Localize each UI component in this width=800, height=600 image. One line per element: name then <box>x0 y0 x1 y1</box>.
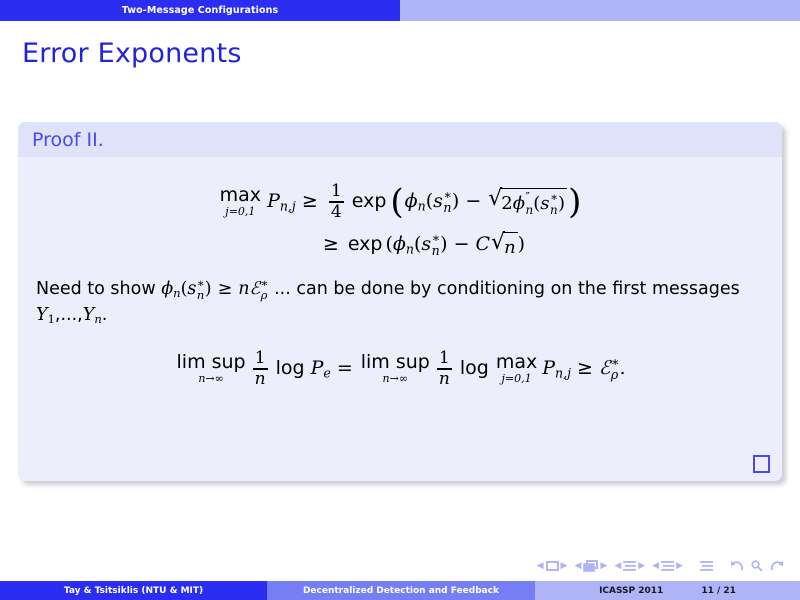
left-paren-big: ( <box>389 189 404 216</box>
search-icon[interactable] <box>751 560 763 572</box>
slide-prev-icon[interactable]: ◀ <box>537 562 544 571</box>
footer-author[interactable]: Tay & Tsitsiklis (NTU & MIT) <box>0 581 267 600</box>
subsection-prev-icon[interactable]: ◀ <box>614 562 621 571</box>
section-icon[interactable] <box>661 560 674 572</box>
minus-sign-2: − <box>448 232 476 258</box>
proof-block-title: Proof II. <box>32 129 104 151</box>
log-operator-2: log <box>457 356 492 382</box>
phi-n-term-2: ϕn <box>393 232 414 258</box>
beamer-navigation-bar[interactable]: ◀ ▶ ◀ ▶ ◀ ▶ ◀ <box>537 560 784 572</box>
footer-subject[interactable]: Decentralized Detection and Feedback <box>267 581 535 600</box>
paragraph-text-before: Need to show <box>36 279 161 299</box>
footer-right: ICASSP 2011 11 / 21 <box>535 581 800 600</box>
paragraph-period: . <box>102 305 108 325</box>
phi-double-prime: ϕ″n <box>513 193 533 214</box>
equation-one-line-two: ≥ exp ( ϕn ( s∗n ) − C √ n ) <box>36 231 764 260</box>
section-prev-icon[interactable]: ◀ <box>652 562 659 571</box>
back-icon[interactable] <box>730 560 744 572</box>
script-e-rho-equation: ℰ∗ρ <box>599 356 620 382</box>
nav-group-slide[interactable]: ◀ ▶ <box>537 561 568 571</box>
slide-next-icon[interactable]: ▶ <box>561 562 568 571</box>
script-e-rho-paragraph: ℰ∗ρ <box>250 279 269 299</box>
ellipsis-text: ,..., <box>55 305 83 325</box>
section-next-icon[interactable]: ▶ <box>676 562 683 571</box>
subsection-next-icon[interactable]: ▶ <box>638 562 645 571</box>
geq-relation-3: ≥ <box>571 356 599 382</box>
header-section-title: Two-Message Configurations <box>122 5 279 16</box>
proof-block-header: Proof II. <box>18 122 782 157</box>
paragraph-text-middle: ... can be done by conditioning on the f… <box>274 279 740 299</box>
paren-close-3: ) <box>518 232 525 258</box>
toc-icon[interactable] <box>700 560 713 572</box>
equation-two: lim sup n→∞ 1 n log Pe = lim sup n→∞ 1 <box>36 350 764 388</box>
limsup-operator-2: lim sup n→∞ <box>359 353 432 384</box>
qed-symbol <box>753 455 770 473</box>
footer-conference: ICASSP 2011 <box>599 586 663 596</box>
equation-one: max j=0,1 Pn,j ≥ 1 4 exp ( ϕn ( s∗n ) − … <box>36 183 764 259</box>
proof-block-body: max j=0,1 Pn,j ≥ 1 4 exp ( ϕn ( s∗n ) − … <box>18 157 782 481</box>
max-operator-2: max j=0,1 <box>492 353 539 384</box>
nav-group-section[interactable]: ◀ ▶ <box>652 560 683 572</box>
frame-prev-icon[interactable]: ◀ <box>574 562 581 571</box>
proof-paragraph: Need to show ϕn(s∗n)≥nℰ∗ρ ... can be don… <box>36 277 764 328</box>
paren-open-1: ( <box>426 189 433 215</box>
nav-group-frame[interactable]: ◀ ▶ <box>574 560 607 572</box>
s-star-n-1: s∗n <box>433 189 452 215</box>
equation-one-line-one: max j=0,1 Pn,j ≥ 1 4 exp ( ϕn ( s∗n ) − … <box>36 183 764 221</box>
sqrt-term-1: √ 2ϕ″n(s∗n) <box>487 187 567 216</box>
minus-sign-1: − <box>459 189 487 215</box>
exp-operator-2: exp <box>345 232 386 258</box>
s-star-n-2: s∗n <box>421 232 440 258</box>
page-title: Error Exponents <box>22 38 242 69</box>
phi-n-term-1: ϕn <box>405 189 426 215</box>
s-star-n-paragraph: s∗n <box>187 279 204 299</box>
proof-block: Proof II. max j=0,1 Pn,j ≥ 1 4 exp ( ϕn <box>18 122 782 481</box>
equation-period: . <box>619 356 625 382</box>
paren-close-2: ) <box>440 232 447 258</box>
geq-relation-1: ≥ <box>296 189 324 215</box>
max-operator: max j=0,1 <box>218 186 263 217</box>
paren-open-3: ( <box>414 232 421 258</box>
pnj-symbol-2: Pn,j <box>539 356 571 382</box>
paren-open-2: ( <box>385 232 392 258</box>
sqrt-n-term: √ n <box>490 231 518 260</box>
log-operator-1: log <box>273 356 308 382</box>
y-n-symbol: Yn <box>83 305 102 325</box>
footer-page-number: 11 / 21 <box>701 586 736 596</box>
pe-symbol: Pe <box>308 356 331 382</box>
paren-close-1: ) <box>452 189 459 215</box>
geq-relation-2: ≥ <box>317 232 345 258</box>
header-bar: Two-Message Configurations <box>0 0 800 21</box>
phi-n-paragraph: ϕn <box>161 279 180 299</box>
one-over-n-fraction-1: 1 n <box>248 350 273 388</box>
y-one-symbol: Y1 <box>36 305 55 325</box>
header-section-tab[interactable]: Two-Message Configurations <box>0 0 400 21</box>
equals-sign: = <box>331 356 359 382</box>
one-over-n-fraction-2: 1 n <box>432 350 457 388</box>
footer-bar: Tay & Tsitsiklis (NTU & MIT) Decentraliz… <box>0 581 800 600</box>
frame-next-icon[interactable]: ▶ <box>600 562 607 571</box>
geq-relation-paragraph: ≥ <box>212 279 239 299</box>
equation-two-line: lim sup n→∞ 1 n log Pe = lim sup n→∞ 1 <box>36 350 764 388</box>
one-fourth-fraction: 1 4 <box>324 183 349 221</box>
limsup-operator-1: lim sup n→∞ <box>175 353 248 384</box>
nav-group-subsection[interactable]: ◀ ▶ <box>614 560 645 572</box>
pnj-symbol: Pn,j <box>263 189 296 215</box>
frame-icon[interactable] <box>546 561 559 571</box>
right-paren-big: ) <box>567 189 582 216</box>
forward-icon[interactable] <box>770 560 784 572</box>
constant-c: C <box>476 232 491 258</box>
frames-stack-icon[interactable] <box>583 560 598 572</box>
exp-operator-1: exp <box>349 189 390 215</box>
n-variable: n <box>238 279 249 299</box>
subsection-icon[interactable] <box>623 560 636 572</box>
